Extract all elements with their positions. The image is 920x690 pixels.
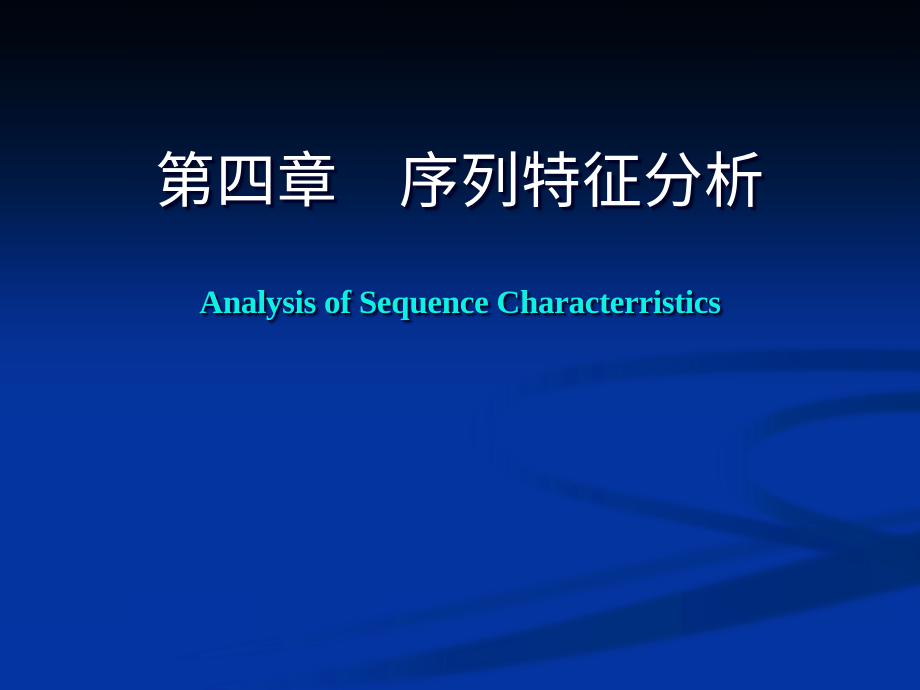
page-subtitle: Analysis of Sequence Characterristics <box>0 287 920 320</box>
slide-text-layer: 第四章 序列特征分析 Analysis of Sequence Characte… <box>0 0 920 690</box>
page-title: 第四章 序列特征分析 <box>0 152 920 212</box>
presentation-slide: 第四章 序列特征分析 Analysis of Sequence Characte… <box>0 0 920 690</box>
